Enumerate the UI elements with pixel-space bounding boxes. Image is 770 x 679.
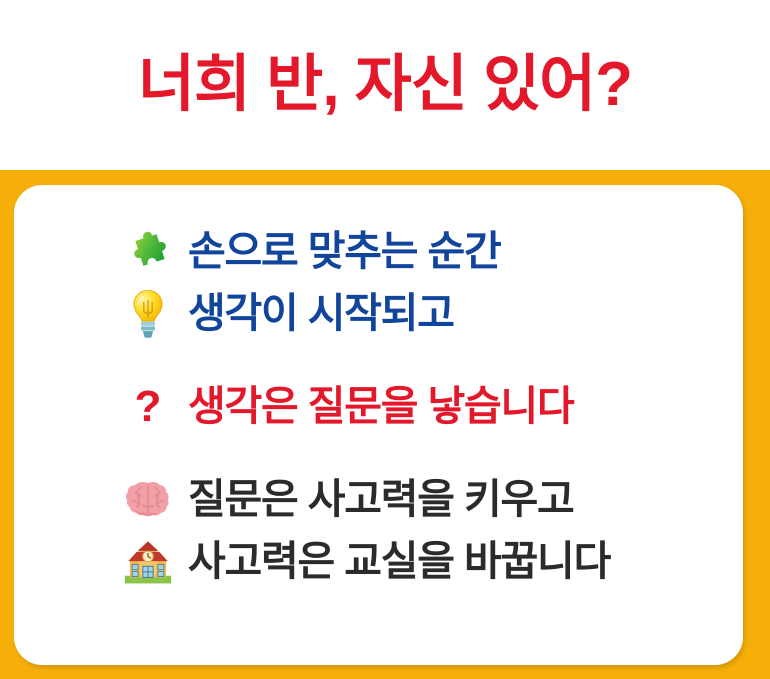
content-line-list: 손으로 맞추는 순간 — [14, 185, 743, 665]
list-item: 사고력은 교실을 바꿉니다 — [14, 531, 743, 593]
list-item: 손으로 맞추는 순간 — [14, 221, 743, 283]
content-group: 손으로 맞추는 순간 — [14, 221, 743, 345]
poster-root: 너희 반, 자신 있어? — [0, 0, 770, 679]
list-item: ? 생각은 질문을 낳습니다 — [14, 376, 743, 438]
list-item-label: 질문은 사고력을 키우고 — [188, 478, 574, 521]
list-item-label: 생각은 질문을 낳습니다 — [188, 385, 574, 428]
yellow-band: 손으로 맞추는 순간 — [0, 170, 770, 679]
list-item-label: 손으로 맞추는 순간 — [188, 230, 501, 273]
poster-title-area: 너희 반, 자신 있어? — [0, 0, 770, 170]
school-building-icon — [122, 534, 174, 590]
list-item-label: 생각이 시작되고 — [188, 292, 454, 335]
question-mark-icon: ? — [122, 379, 174, 435]
list-item-label: 사고력은 교실을 바꿉니다 — [188, 540, 610, 583]
content-group: 질문은 사고력을 키우고 — [14, 469, 743, 593]
puzzle-piece-icon — [122, 224, 174, 280]
content-group: ? 생각은 질문을 낳습니다 — [14, 376, 743, 438]
brain-icon — [122, 472, 174, 528]
list-item: 질문은 사고력을 키우고 — [14, 469, 743, 531]
content-card: 손으로 맞추는 순간 — [14, 185, 743, 665]
list-item: 생각이 시작되고 — [14, 283, 743, 345]
page-title: 너희 반, 자신 있어? — [128, 52, 642, 117]
lightbulb-icon — [122, 286, 174, 342]
